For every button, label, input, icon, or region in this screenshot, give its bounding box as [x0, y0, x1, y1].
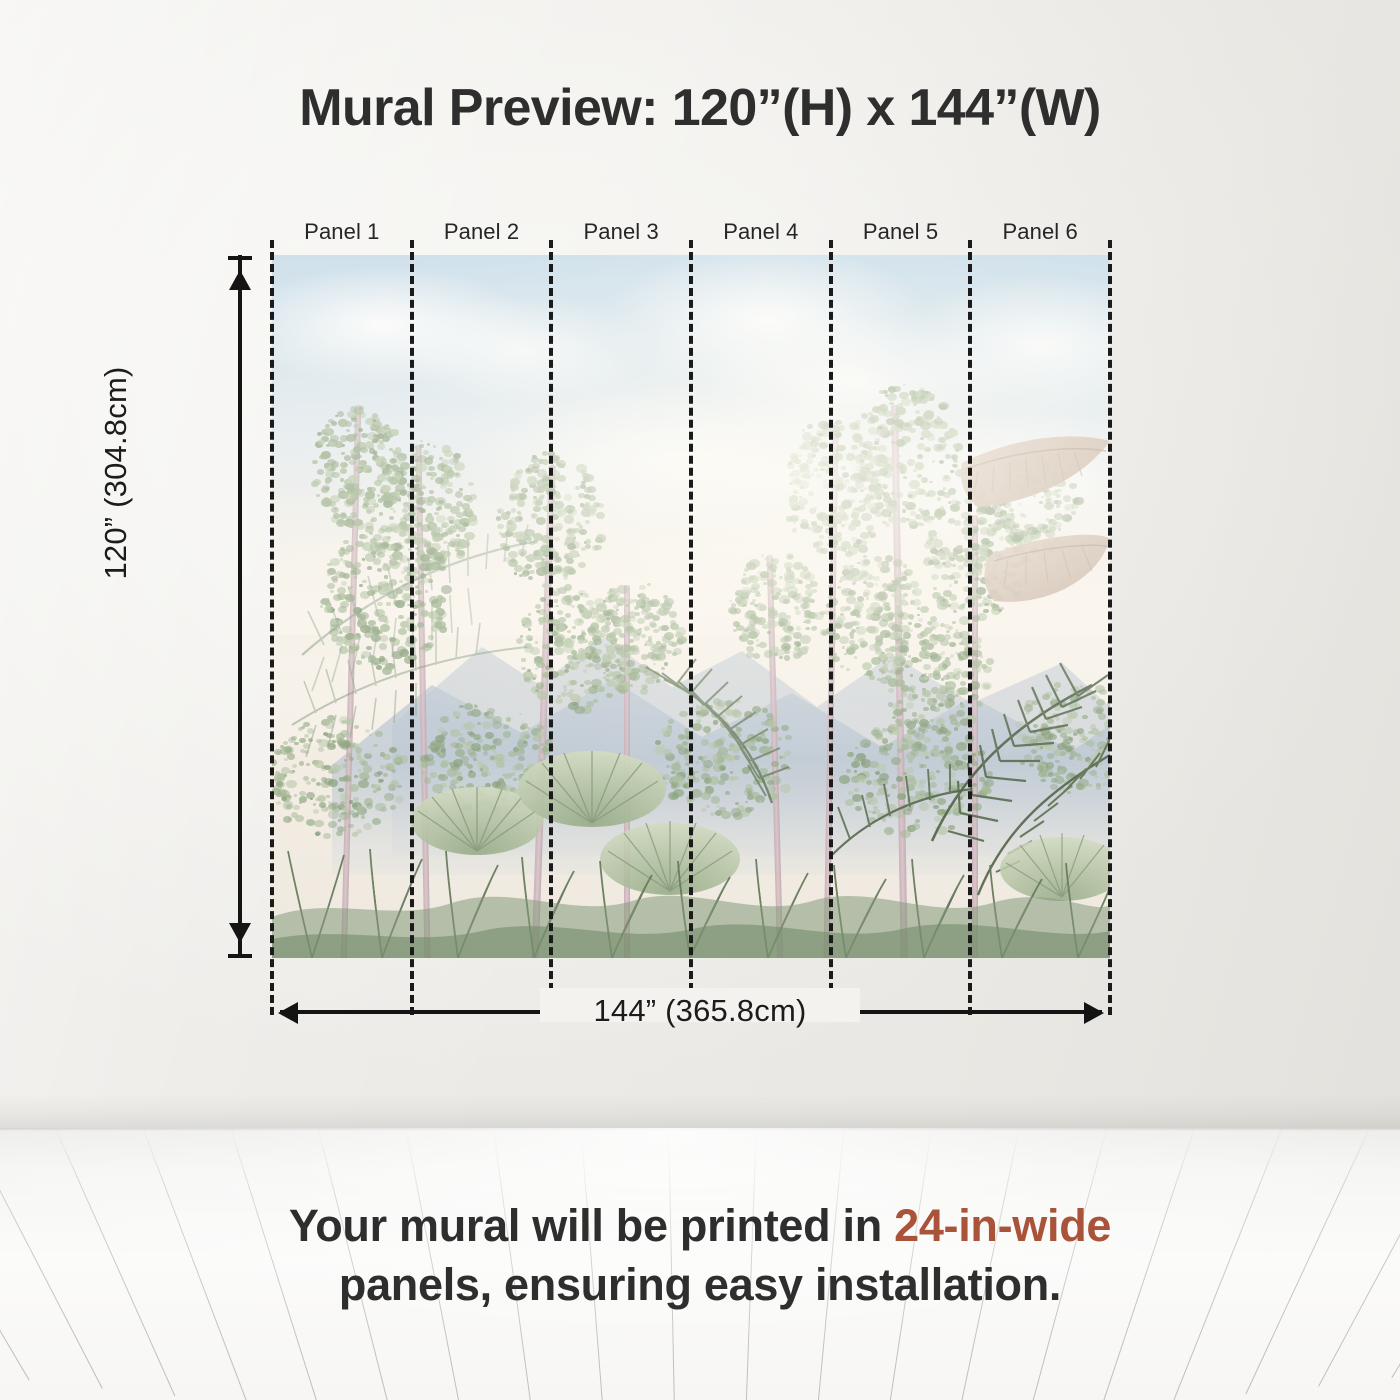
height-arrow-line [238, 255, 242, 958]
width-dimension-label: 144” (365.8cm) [0, 993, 1400, 1029]
footer-line-2: panels, ensuring easy installation. [0, 1255, 1400, 1314]
height-tick-top [228, 256, 252, 260]
height-dimension-label: 120” (304.8cm) [98, 323, 134, 623]
panel-divider-5 [968, 240, 972, 1015]
panel-divider-6 [1108, 240, 1112, 1015]
footer-line-1: Your mural will be printed in 24-in-wide [0, 1196, 1400, 1255]
panel-divider-1 [410, 240, 414, 1015]
footer-line1-prefix: Your mural will be printed in [289, 1200, 894, 1251]
footer-accent-text: 24-in-wide [894, 1200, 1111, 1251]
panel-divider-3 [689, 240, 693, 1015]
height-arrowhead-up [229, 270, 251, 290]
footer-message: Your mural will be printed in 24-in-wide… [0, 1196, 1400, 1315]
height-tick-bottom [228, 954, 252, 958]
floor-wall-joint [0, 1128, 1400, 1131]
panel-divider-4 [829, 240, 833, 1015]
panel-divider-0 [270, 240, 274, 1015]
mural-preview-stage: Panel 1Panel 2Panel 3Panel 4Panel 5Panel… [0, 0, 1400, 1128]
height-arrowhead-down [229, 923, 251, 943]
panel-dividers [272, 240, 1110, 1015]
panel-divider-2 [549, 240, 553, 1015]
